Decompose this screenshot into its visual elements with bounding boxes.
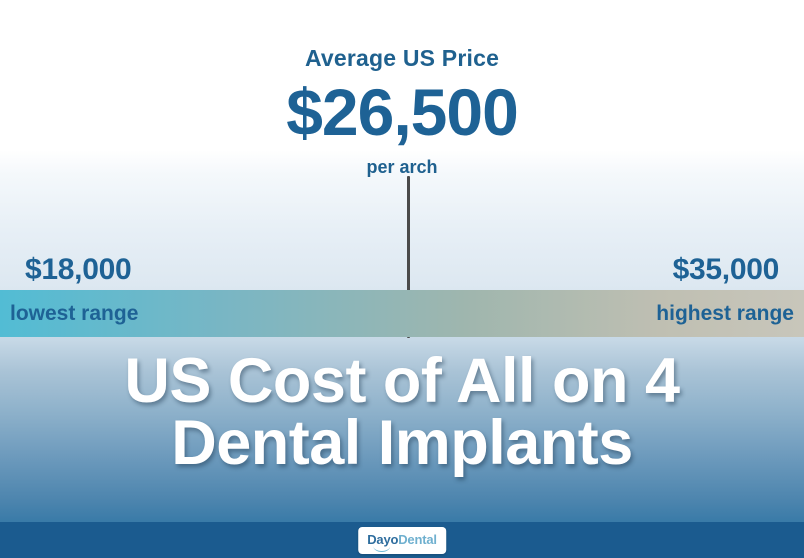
logo-dayo-wrap: Dayo [367, 531, 398, 549]
logo-text-dayo: Dayo [367, 532, 398, 547]
page-title-line-1: US Cost of All on 4 [0, 350, 804, 412]
average-price-block: Average US Price $26,500 per arch [0, 0, 804, 178]
price-range-bar: lowest range highest range [0, 290, 804, 337]
range-price-row: $18,000 $35,000 [0, 249, 804, 290]
page-title-line-2: Dental Implants [0, 412, 804, 474]
average-price-label: Average US Price [0, 45, 804, 73]
infographic-canvas: Average US Price $26,500 per arch $18,00… [0, 0, 804, 558]
average-price-value: $26,500 [0, 79, 804, 145]
logo-text-dental: Dental [398, 533, 437, 546]
page-title: US Cost of All on 4 Dental Implants [0, 350, 804, 475]
lowest-range-price: $18,000 [25, 255, 131, 285]
smile-curve-icon [373, 546, 390, 552]
highest-range-label: highest range [656, 303, 794, 324]
highest-range-price: $35,000 [673, 255, 779, 285]
dayo-dental-logo[interactable]: Dayo Dental [358, 527, 446, 554]
lowest-range-label: lowest range [10, 303, 138, 324]
per-arch-label: per arch [0, 157, 804, 179]
